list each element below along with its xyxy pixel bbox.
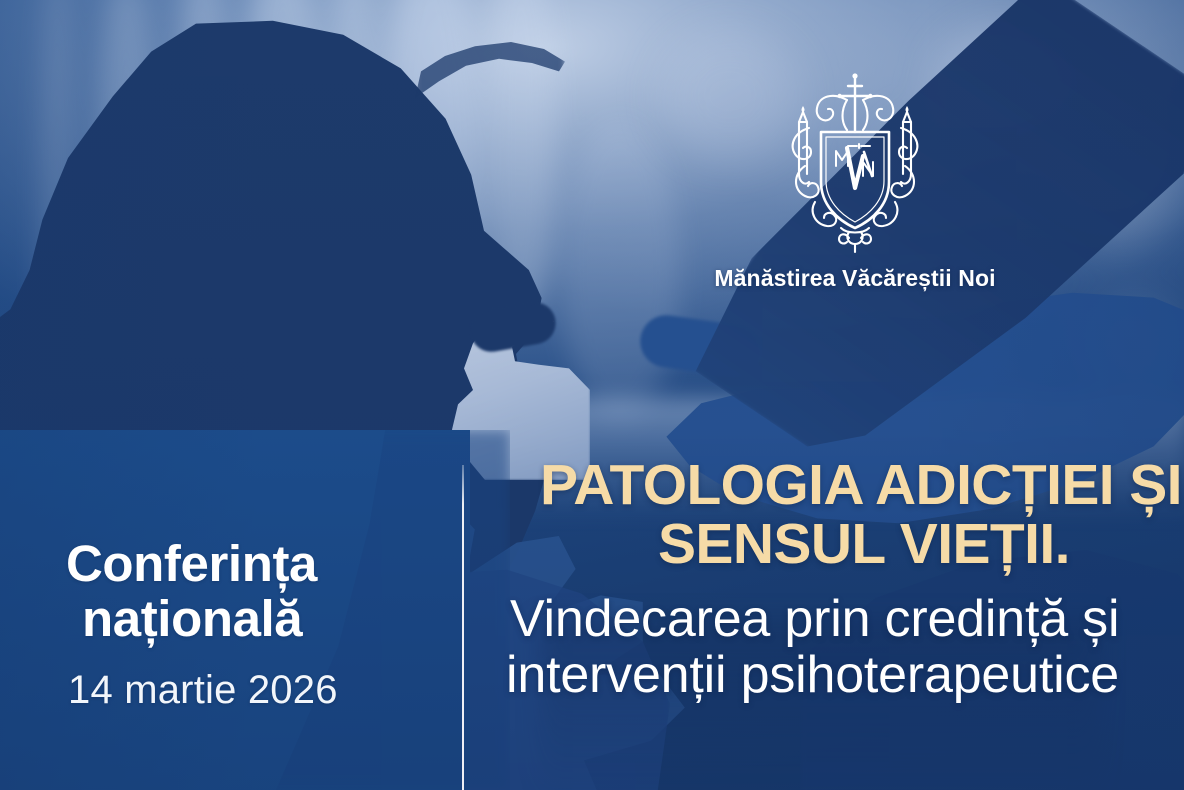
conference-heading-line-2: națională [66, 591, 456, 646]
conference-subtitle-line-2: intervenții psihoterapeutice [506, 647, 1184, 703]
conference-heading-line-1: Conferința [66, 536, 456, 591]
conference-subtitle-line-1: Vindecarea prin credință și [506, 591, 1184, 647]
monastery-logo-block: Mănăstirea Văcăreștii Noi [700, 70, 1010, 292]
conference-poster: Mănăstirea Văcăreștii Noi Conferința naț… [0, 0, 1184, 790]
conference-title-block: PATOLOGIA ADICȚIEI ȘI SENSUL VIEȚII. Vin… [506, 456, 1184, 703]
monastery-shield-crest-icon [775, 70, 935, 255]
vertical-divider [462, 465, 464, 790]
conference-date: 14 martie 2026 [66, 668, 456, 713]
conference-title-line-1: PATOLOGIA ADICȚIEI ȘI [506, 456, 1184, 515]
monastery-name-label: Mănăstirea Văcăreștii Noi [700, 265, 1010, 292]
conference-title-line-2: SENSUL VIEȚII. [506, 515, 1184, 574]
event-info-block: Conferința națională 14 martie 2026 [66, 536, 456, 713]
